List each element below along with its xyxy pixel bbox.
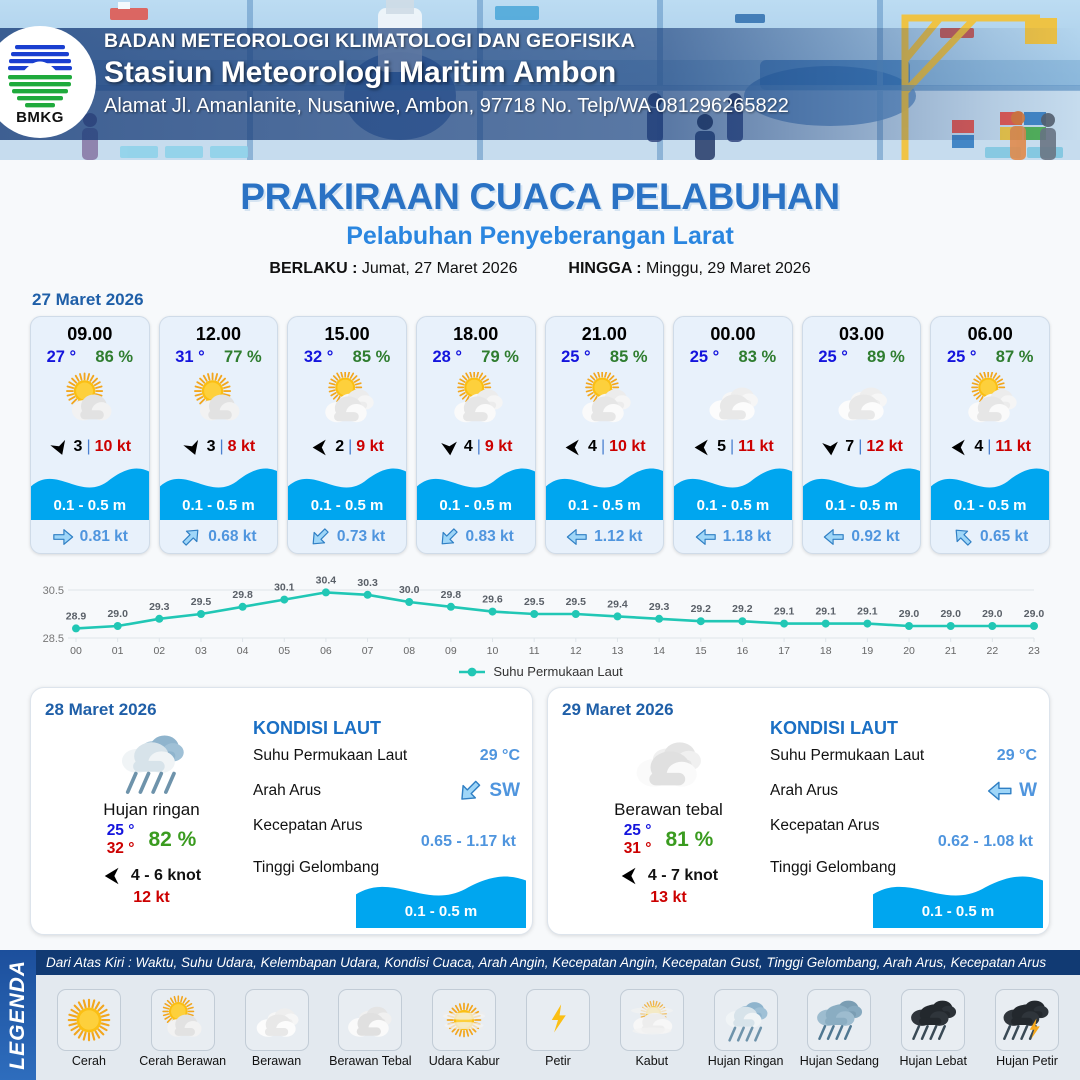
- card-current-speed: 0.73 kt: [337, 528, 385, 546]
- daily-weather-icon: [49, 726, 254, 798]
- hujan-petir-icon: [1002, 995, 1052, 1045]
- svg-text:29.3: 29.3: [649, 601, 670, 613]
- station-name: Stasiun Meteorologi Maritim Ambon: [104, 56, 1034, 90]
- kabut-icon: [627, 995, 677, 1045]
- hujan-ringan-icon: [115, 725, 189, 799]
- chart-legend: Suhu Permukaan Laut: [0, 664, 1080, 679]
- daily-temp-min: 25 °: [624, 822, 652, 840]
- current-direction-arrow-icon: [823, 526, 845, 548]
- card-wave-section: 0.1 - 0.5 m: [288, 462, 406, 520]
- card-wave-height: 0.1 - 0.5 m: [931, 497, 1049, 514]
- hourly-forecast-card: 03.00 25 ° 89 % 7 | 12 kt 0.1 - 0.5 m: [802, 316, 922, 554]
- card-time: 00.00: [674, 317, 792, 345]
- sst-label: Suhu Permukaan Laut: [770, 747, 924, 765]
- card-time: 18.00: [417, 317, 535, 345]
- card-weather-icon: [31, 370, 149, 432]
- cerah-icon: [64, 995, 114, 1045]
- page-subtitle: Pelabuhan Penyeberangan Larat: [0, 222, 1080, 251]
- card-time: 06.00: [931, 317, 1049, 345]
- card-current-speed: 0.81 kt: [80, 528, 128, 546]
- daily-wave-height: 0.1 - 0.5 m: [873, 903, 1043, 920]
- card-time: 03.00: [803, 317, 921, 345]
- card-humidity: 87 %: [996, 348, 1034, 367]
- legend-icon-box: [620, 989, 684, 1051]
- current-direction-value: SW: [489, 780, 520, 802]
- legend-icon-box: [807, 989, 871, 1051]
- cerah-berawan-icon: [189, 372, 247, 430]
- svg-text:29.0: 29.0: [940, 608, 961, 620]
- card-current-row: 0.92 kt: [803, 520, 921, 553]
- svg-text:17: 17: [778, 645, 790, 657]
- legend-item: Petir: [514, 989, 602, 1068]
- legend-bar: LEGENDA Dari Atas Kiri : Waktu, Suhu Uda…: [0, 950, 1080, 1080]
- current-direction-arrow-icon: [452, 773, 489, 810]
- berawan-sun-icon: [961, 372, 1019, 430]
- berawan-sun-icon: [318, 372, 376, 430]
- svg-text:05: 05: [278, 645, 290, 657]
- svg-text:28.5: 28.5: [43, 633, 64, 645]
- wind-direction-arrow-icon: [619, 865, 641, 887]
- card-wind-direction-code: 3: [207, 438, 216, 456]
- svg-text:29.0: 29.0: [1024, 608, 1045, 620]
- current-direction-arrow-icon: [176, 521, 207, 552]
- current-direction-arrow-icon: [566, 526, 588, 548]
- card-wind-row: 3 | 10 kt: [31, 432, 149, 462]
- card-wave-section: 0.1 - 0.5 m: [546, 462, 664, 520]
- legend-item-label: Kabut: [608, 1054, 696, 1068]
- card-wave-height: 0.1 - 0.5 m: [160, 497, 278, 514]
- card-current-speed: 0.83 kt: [466, 528, 514, 546]
- wind-direction-arrow-icon: [179, 434, 206, 461]
- card-wind-speed: 12 kt: [866, 438, 902, 456]
- hourly-forecast-card: 15.00 32 ° 85 % 2 | 9 kt 0.1 - 0.5 m: [287, 316, 407, 554]
- card-separator: |: [858, 438, 862, 456]
- card-current-speed: 0.68 kt: [208, 528, 256, 546]
- card-wave-section: 0.1 - 0.5 m: [160, 462, 278, 520]
- card-wind-row: 4 | 9 kt: [417, 432, 535, 462]
- legend-item-label: Petir: [514, 1054, 602, 1068]
- card-current-speed: 0.92 kt: [851, 528, 899, 546]
- card-current-speed: 1.18 kt: [723, 528, 771, 546]
- wind-direction-arrow-icon: [310, 437, 331, 458]
- petir-icon: [533, 995, 583, 1045]
- bmkg-logo-text: BMKG: [3, 109, 77, 126]
- card-time: 15.00: [288, 317, 406, 345]
- card-humidity: 86 %: [95, 348, 133, 367]
- daily-forecast-panel: 29 Maret 2026 Berawan tebal 25 ° 31 ° 81…: [547, 687, 1050, 935]
- legend-item-label: Cerah: [45, 1054, 133, 1068]
- card-humidity: 89 %: [867, 348, 905, 367]
- cerah-berawan-icon: [158, 995, 208, 1045]
- card-separator: |: [601, 438, 605, 456]
- legend-item: Berawan: [233, 989, 321, 1068]
- svg-text:16: 16: [737, 645, 749, 657]
- berawan-sun-icon: [575, 372, 633, 430]
- wind-direction-arrow-icon: [46, 434, 73, 461]
- daily-wave-graphic: 0.1 - 0.5 m: [356, 870, 526, 928]
- current-speed-value: 0.65 - 1.17 kt: [253, 833, 516, 851]
- card-temperature: 32 °: [304, 348, 334, 367]
- legend-item-label: Hujan Petir: [983, 1054, 1071, 1068]
- svg-text:29.2: 29.2: [691, 603, 712, 615]
- card-humidity: 85 %: [353, 348, 391, 367]
- card-wind-direction-code: 4: [974, 438, 983, 456]
- card-temperature: 25 °: [818, 348, 848, 367]
- svg-text:23: 23: [1028, 645, 1040, 657]
- legend-icon-box: [901, 989, 965, 1051]
- cerah-berawan-icon: [61, 372, 119, 430]
- svg-text:00: 00: [70, 645, 82, 657]
- svg-text:29.3: 29.3: [149, 601, 170, 613]
- card-wind-speed: 11 kt: [738, 438, 774, 456]
- hujan-ringan-icon: [721, 995, 771, 1045]
- daily-wind-speed: 4 - 6 knot: [131, 867, 201, 885]
- wind-direction-arrow-icon: [692, 437, 713, 458]
- svg-text:09: 09: [445, 645, 457, 657]
- daily-condition: Berawan tebal: [566, 800, 771, 820]
- chart-legend-marker-icon: [457, 666, 487, 678]
- card-wind-speed: 11 kt: [995, 438, 1031, 456]
- card-wave-section: 0.1 - 0.5 m: [31, 462, 149, 520]
- legend-icon-list: Cerah Cerah Berawan Berawan Berawan Teba…: [36, 975, 1080, 1080]
- current-direction-label: Arah Arus: [253, 782, 321, 800]
- wind-direction-arrow-icon: [438, 436, 461, 459]
- valid-from-value: Jumat, 27 Maret 2026: [362, 260, 518, 277]
- page-title: PRAKIRAAN CUACA PELABUHAN: [0, 176, 1080, 218]
- svg-text:08: 08: [403, 645, 415, 657]
- chart-legend-label: Suhu Permukaan Laut: [493, 664, 622, 679]
- card-current-row: 1.12 kt: [546, 520, 664, 553]
- card-wave-section: 0.1 - 0.5 m: [417, 462, 535, 520]
- legend-note: Dari Atas Kiri : Waktu, Suhu Udara, Kele…: [36, 950, 1080, 975]
- current-direction-arrow-icon: [304, 521, 335, 552]
- svg-text:06: 06: [320, 645, 332, 657]
- wind-direction-arrow-icon: [563, 437, 584, 458]
- svg-text:21: 21: [945, 645, 957, 657]
- sea-condition-heading: KONDISI LAUT: [253, 718, 520, 739]
- legend-item: Kabut: [608, 989, 696, 1068]
- svg-text:19: 19: [862, 645, 874, 657]
- svg-text:29.1: 29.1: [774, 606, 795, 618]
- svg-text:28.9: 28.9: [66, 610, 87, 622]
- svg-text:18: 18: [820, 645, 832, 657]
- hourly-forecast-card: 12.00 31 ° 77 % 3 | 8 kt 0.1 - 0.5 m 0.6…: [159, 316, 279, 554]
- validity-period: BERLAKU : Jumat, 27 Maret 2026 HINGGA : …: [0, 260, 1080, 278]
- legend-item: Hujan Ringan: [702, 989, 790, 1068]
- svg-text:02: 02: [153, 645, 165, 657]
- card-time: 09.00: [31, 317, 149, 345]
- card-wind-direction-code: 4: [464, 438, 473, 456]
- legend-item: Hujan Sedang: [795, 989, 883, 1068]
- valid-until-value: Minggu, 29 Maret 2026: [646, 260, 811, 277]
- current-direction-value: W: [1019, 780, 1037, 802]
- sst-label: Suhu Permukaan Laut: [253, 747, 407, 765]
- legend-item: Berawan Tebal: [326, 989, 414, 1068]
- daily-weather-icon: [566, 726, 771, 798]
- hujan-sedang-icon: [814, 995, 864, 1045]
- berawan-icon: [833, 372, 891, 430]
- card-time: 21.00: [546, 317, 664, 345]
- card-wave-height: 0.1 - 0.5 m: [803, 497, 921, 514]
- card-humidity: 85 %: [610, 348, 648, 367]
- hourly-day-label: 27 Maret 2026: [32, 290, 1080, 310]
- daily-condition: Hujan ringan: [49, 800, 254, 820]
- card-temperature: 25 °: [690, 348, 720, 367]
- svg-text:07: 07: [362, 645, 374, 657]
- current-direction-arrow-icon: [695, 526, 717, 548]
- page-header: BMKG BADAN METEOROLOGI KLIMATOLOGI DAN G…: [0, 0, 1080, 160]
- legend-item-label: Hujan Sedang: [795, 1054, 883, 1068]
- svg-text:29.5: 29.5: [524, 596, 545, 608]
- card-current-speed: 1.12 kt: [594, 528, 642, 546]
- svg-text:29.0: 29.0: [107, 608, 128, 620]
- legend-item-label: Hujan Ringan: [702, 1054, 790, 1068]
- svg-text:30.5: 30.5: [43, 585, 64, 597]
- berawan-icon: [704, 372, 762, 430]
- svg-text:22: 22: [987, 645, 999, 657]
- card-humidity: 83 %: [739, 348, 777, 367]
- hourly-forecast-cards: 09.00 27 ° 86 % 3 | 10 kt 0.1 - 0.5 m 0.…: [0, 316, 1080, 554]
- card-weather-icon: [803, 370, 921, 432]
- card-current-speed: 0.65 kt: [980, 528, 1028, 546]
- svg-text:30.3: 30.3: [357, 577, 378, 589]
- card-weather-icon: [288, 370, 406, 432]
- current-direction-label: Arah Arus: [770, 782, 838, 800]
- svg-text:29.1: 29.1: [815, 606, 836, 618]
- card-temperature: 25 °: [947, 348, 977, 367]
- sst-chart: 30.528.500010203040506070809101112131415…: [30, 568, 1050, 660]
- card-wave-height: 0.1 - 0.5 m: [417, 497, 535, 514]
- legend-side-label: LEGENDA: [0, 950, 36, 1080]
- card-separator: |: [86, 438, 90, 456]
- legend-icon-box: [714, 989, 778, 1051]
- wind-direction-arrow-icon: [102, 865, 124, 887]
- svg-text:30.1: 30.1: [274, 582, 295, 594]
- card-wind-row: 7 | 12 kt: [803, 432, 921, 462]
- legend-icon-box: [151, 989, 215, 1051]
- svg-text:29.8: 29.8: [232, 589, 253, 601]
- svg-text:12: 12: [570, 645, 582, 657]
- card-wave-section: 0.1 - 0.5 m: [931, 462, 1049, 520]
- valid-from-label: BERLAKU :: [269, 260, 357, 277]
- agency-name: BADAN METEOROLOGI KLIMATOLOGI DAN GEOFIS…: [104, 30, 1034, 53]
- legend-item-label: Hujan Lebat: [889, 1054, 977, 1068]
- card-wave-height: 0.1 - 0.5 m: [674, 497, 792, 514]
- svg-text:30.0: 30.0: [399, 584, 420, 596]
- current-direction-arrow-icon: [987, 778, 1013, 804]
- svg-text:13: 13: [612, 645, 624, 657]
- card-humidity: 79 %: [481, 348, 519, 367]
- sst-chart-plot: 30.528.500010203040506070809101112131415…: [30, 568, 1050, 660]
- card-current-row: 0.81 kt: [31, 520, 149, 553]
- svg-text:29.8: 29.8: [441, 589, 462, 601]
- daily-forecast-panels: 28 Maret 2026 Hujan ringan 25 ° 32 ° 82 …: [0, 679, 1080, 935]
- card-separator: |: [348, 438, 352, 456]
- daily-humidity: 81 %: [665, 828, 713, 852]
- berawan-sun-icon: [447, 372, 505, 430]
- wind-direction-arrow-icon: [949, 437, 970, 458]
- sst-value: 29 °C: [997, 747, 1037, 765]
- valid-until-label: HINGGA :: [568, 260, 641, 277]
- legend-icon-box: [995, 989, 1059, 1051]
- svg-text:29.5: 29.5: [566, 596, 587, 608]
- card-wind-direction-code: 5: [717, 438, 726, 456]
- card-wave-section: 0.1 - 0.5 m: [674, 462, 792, 520]
- daily-gust: 12 kt: [49, 889, 254, 907]
- legend-item-label: Cerah Berawan: [139, 1054, 227, 1068]
- card-wave-height: 0.1 - 0.5 m: [31, 497, 149, 514]
- svg-text:29.2: 29.2: [732, 603, 753, 615]
- svg-text:03: 03: [195, 645, 207, 657]
- svg-text:29.0: 29.0: [982, 608, 1003, 620]
- card-wind-speed: 10 kt: [95, 438, 131, 456]
- daily-date: 29 Maret 2026: [562, 700, 1035, 720]
- legend-item: Hujan Lebat: [889, 989, 977, 1068]
- hourly-forecast-card: 18.00 28 ° 79 % 4 | 9 kt 0.1 - 0.5 m: [416, 316, 536, 554]
- card-weather-icon: [160, 370, 278, 432]
- daily-humidity: 82 %: [148, 828, 196, 852]
- daily-temp-max: 32 °: [107, 840, 135, 858]
- legend-icon-box: [338, 989, 402, 1051]
- station-address: Alamat Jl. Amanlanite, Nusaniwe, Ambon, …: [104, 95, 1034, 118]
- card-time: 12.00: [160, 317, 278, 345]
- svg-text:29.1: 29.1: [857, 606, 878, 618]
- udara-kabur-icon: [439, 995, 489, 1045]
- legend-icon-box: [245, 989, 309, 1051]
- card-weather-icon: [546, 370, 664, 432]
- card-wind-speed: 8 kt: [228, 438, 256, 456]
- card-separator: |: [987, 438, 991, 456]
- sst-value: 29 °C: [480, 747, 520, 765]
- legend-item: Cerah Berawan: [139, 989, 227, 1068]
- hourly-forecast-card: 09.00 27 ° 86 % 3 | 10 kt 0.1 - 0.5 m 0.…: [30, 316, 150, 554]
- card-wind-direction-code: 4: [588, 438, 597, 456]
- current-direction-arrow-icon: [433, 521, 464, 552]
- daily-wave-graphic: 0.1 - 0.5 m: [873, 870, 1043, 928]
- card-wind-speed: 9 kt: [356, 438, 384, 456]
- legend-icon-box: [526, 989, 590, 1051]
- svg-text:01: 01: [112, 645, 124, 657]
- legend-item: Cerah: [45, 989, 133, 1068]
- svg-text:10: 10: [487, 645, 499, 657]
- daily-wave-height: 0.1 - 0.5 m: [356, 903, 526, 920]
- sea-condition-heading: KONDISI LAUT: [770, 718, 1037, 739]
- card-current-row: 0.83 kt: [417, 520, 535, 553]
- card-temperature: 25 °: [561, 348, 591, 367]
- card-wind-direction-code: 3: [74, 438, 83, 456]
- current-direction-arrow-icon: [52, 526, 74, 548]
- svg-text:29.0: 29.0: [899, 608, 920, 620]
- svg-text:04: 04: [237, 645, 249, 657]
- svg-text:29.5: 29.5: [191, 596, 212, 608]
- svg-text:30.4: 30.4: [316, 574, 337, 586]
- berawan-tebal-icon: [345, 995, 395, 1045]
- current-direction-arrow-icon: [947, 521, 978, 552]
- card-wind-speed: 9 kt: [485, 438, 513, 456]
- card-current-row: 0.73 kt: [288, 520, 406, 553]
- daily-date: 28 Maret 2026: [45, 700, 518, 720]
- current-speed-value: 0.62 - 1.08 kt: [770, 833, 1033, 851]
- berawan-icon: [252, 995, 302, 1045]
- card-wind-direction-code: 2: [335, 438, 344, 456]
- svg-text:11: 11: [529, 645, 540, 657]
- card-weather-icon: [931, 370, 1049, 432]
- card-wind-row: 4 | 10 kt: [546, 432, 664, 462]
- card-separator: |: [730, 438, 734, 456]
- card-temperature: 27 °: [47, 348, 77, 367]
- daily-wind-speed: 4 - 7 knot: [648, 867, 718, 885]
- card-wind-row: 4 | 11 kt: [931, 432, 1049, 462]
- daily-gust: 13 kt: [566, 889, 771, 907]
- svg-text:14: 14: [653, 645, 665, 657]
- card-wind-speed: 10 kt: [609, 438, 645, 456]
- card-temperature: 31 °: [175, 348, 205, 367]
- hourly-forecast-card: 00.00 25 ° 83 % 5 | 11 kt 0.1 - 0.5 m: [673, 316, 793, 554]
- card-wave-height: 0.1 - 0.5 m: [546, 497, 664, 514]
- daily-temp-min: 25 °: [107, 822, 135, 840]
- daily-forecast-panel: 28 Maret 2026 Hujan ringan 25 ° 32 ° 82 …: [30, 687, 533, 935]
- card-current-row: 0.68 kt: [160, 520, 278, 553]
- card-current-row: 0.65 kt: [931, 520, 1049, 553]
- legend-item-label: Udara Kabur: [420, 1054, 508, 1068]
- svg-text:29.4: 29.4: [607, 598, 628, 610]
- card-temperature: 28 °: [432, 348, 462, 367]
- card-separator: |: [477, 438, 481, 456]
- svg-text:20: 20: [903, 645, 915, 657]
- svg-text:29.6: 29.6: [482, 594, 503, 606]
- hourly-forecast-card: 21.00 25 ° 85 % 4 | 10 kt 0.1 - 0.5 m: [545, 316, 665, 554]
- card-wave-height: 0.1 - 0.5 m: [288, 497, 406, 514]
- legend-icon-box: [432, 989, 496, 1051]
- legend-item: Udara Kabur: [420, 989, 508, 1068]
- card-separator: |: [220, 438, 224, 456]
- legend-icon-box: [57, 989, 121, 1051]
- legend-item: Hujan Petir: [983, 989, 1071, 1068]
- card-current-row: 1.18 kt: [674, 520, 792, 553]
- card-weather-icon: [674, 370, 792, 432]
- hourly-forecast-card: 06.00 25 ° 87 % 4 | 11 kt 0.1 - 0.5 m: [930, 316, 1050, 554]
- card-humidity: 77 %: [224, 348, 262, 367]
- current-speed-label: Kecepatan Arus: [770, 817, 879, 835]
- card-wind-row: 2 | 9 kt: [288, 432, 406, 462]
- legend-item-label: Berawan: [233, 1054, 321, 1068]
- card-wind-direction-code: 7: [845, 438, 854, 456]
- svg-text:15: 15: [695, 645, 707, 657]
- daily-wind-row: 4 - 7 knot: [566, 865, 771, 887]
- current-speed-label: Kecepatan Arus: [253, 817, 362, 835]
- card-wind-row: 5 | 11 kt: [674, 432, 792, 462]
- card-wind-row: 3 | 8 kt: [160, 432, 278, 462]
- berawan-tebal-icon: [632, 725, 706, 799]
- hujan-lebat-icon: [908, 995, 958, 1045]
- legend-item-label: Berawan Tebal: [326, 1054, 414, 1068]
- daily-temp-max: 31 °: [624, 840, 652, 858]
- wind-direction-arrow-icon: [819, 436, 842, 459]
- card-weather-icon: [417, 370, 535, 432]
- daily-wind-row: 4 - 6 knot: [49, 865, 254, 887]
- bmkg-logo-icon: [3, 39, 77, 111]
- card-wave-section: 0.1 - 0.5 m: [803, 462, 921, 520]
